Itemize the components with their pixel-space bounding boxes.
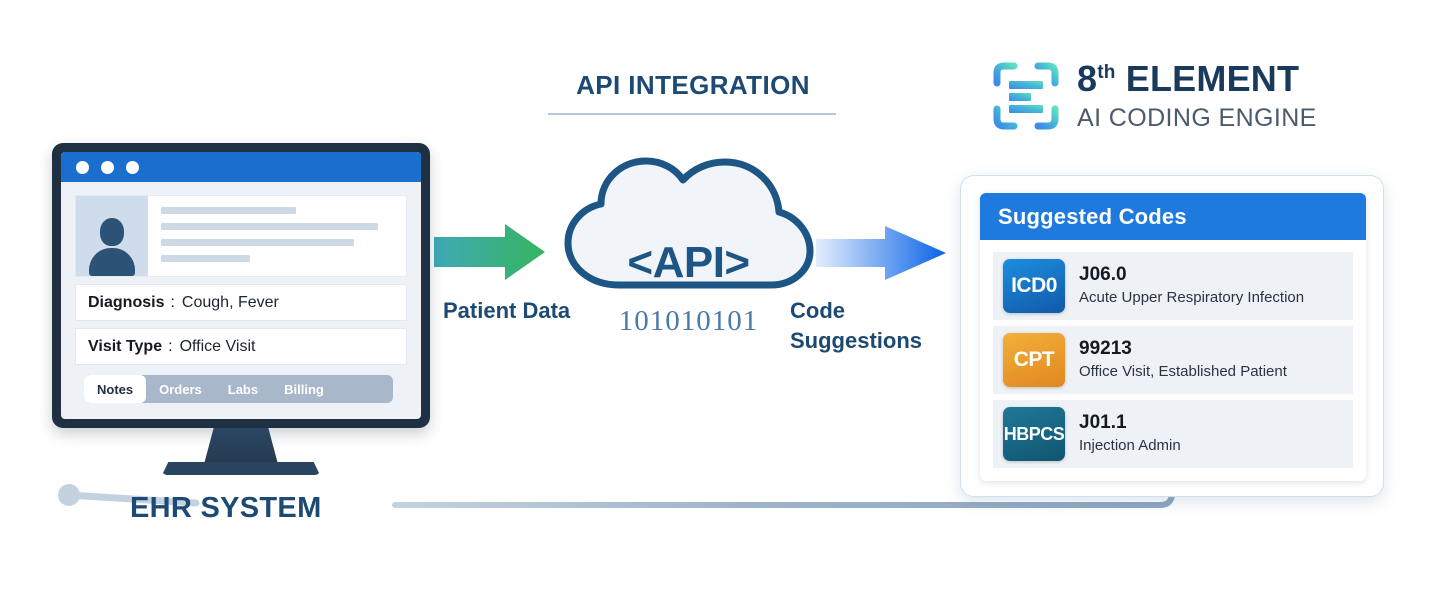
code-suggestions-arrow <box>816 226 946 280</box>
binary-stream-text: 101010101 <box>556 305 821 338</box>
hbpcs-badge: HBPCS <box>1003 407 1065 461</box>
window-dot-2[interactable] <box>101 161 114 174</box>
brand-name-word: ELEMENT <box>1126 58 1299 99</box>
code-row-hbpcs[interactable]: HBPCS J01.1 Injection Admin <box>993 400 1353 468</box>
field-separator: : <box>170 294 174 312</box>
scan-document-icon <box>992 61 1060 131</box>
placeholder-line <box>161 239 354 246</box>
suggested-codes-panel: Suggested Codes ICD0 J06.0 Acute Upper R… <box>980 193 1366 481</box>
icd-badge: ICD0 <box>1003 259 1065 313</box>
ehr-tab-bar: Notes Orders Labs Billing <box>84 375 393 403</box>
code-value: J06.0 <box>1079 264 1304 287</box>
code-description: Office Visit, Established Patient <box>1079 363 1287 382</box>
ehr-screen-body: Diagnosis : Cough, Fever Visit Type : Of… <box>61 182 421 403</box>
tab-labs[interactable]: Labs <box>215 375 271 403</box>
code-row-icd[interactable]: ICD0 J06.0 Acute Upper Respiratory Infec… <box>993 252 1353 320</box>
ehr-system-caption: EHR SYSTEM <box>130 492 322 525</box>
code-text: J06.0 Acute Upper Respiratory Infection <box>1079 264 1304 308</box>
code-description: Acute Upper Respiratory Infection <box>1079 289 1304 308</box>
brand-name-ordinal: th <box>1097 62 1115 83</box>
field-row-diagnosis: Diagnosis : Cough, Fever <box>75 284 407 321</box>
patient-detail-placeholders <box>148 196 406 276</box>
code-description: Injection Admin <box>1079 437 1181 456</box>
patient-data-arrow <box>434 224 545 280</box>
heading-underline <box>548 113 836 115</box>
brand-tagline: AI CODING ENGINE <box>1077 104 1317 133</box>
avatar-head <box>100 218 124 246</box>
monitor-bezel: Diagnosis : Cough, Fever Visit Type : Of… <box>52 143 430 428</box>
code-row-cpt[interactable]: CPT 99213 Office Visit, Established Pati… <box>993 326 1353 394</box>
placeholder-line <box>161 255 250 262</box>
suggested-codes-header: Suggested Codes <box>980 193 1366 240</box>
tab-billing[interactable]: Billing <box>271 375 337 403</box>
code-suggestions-label: Code Suggestions <box>790 296 960 355</box>
diagram-canvas: Diagnosis : Cough, Fever Visit Type : Of… <box>0 0 1429 589</box>
avatar <box>76 196 148 276</box>
field-label-visit-type: Visit Type <box>88 338 162 356</box>
ehr-monitor: Diagnosis : Cough, Fever Visit Type : Of… <box>52 143 432 443</box>
window-dot-1[interactable] <box>76 161 89 174</box>
brand-text: 8th ELEMENT AI CODING ENGINE <box>1077 58 1317 133</box>
tab-notes[interactable]: Notes <box>84 375 146 403</box>
code-value: J01.1 <box>1079 412 1181 435</box>
code-suggestions-label-line1: Code <box>790 296 960 326</box>
brand-logo: 8th ELEMENT AI CODING ENGINE <box>992 58 1317 133</box>
tab-orders[interactable]: Orders <box>146 375 215 403</box>
suggested-codes-list: ICD0 J06.0 Acute Upper Respiratory Infec… <box>980 240 1366 468</box>
brand-name: 8th ELEMENT <box>1077 60 1317 98</box>
placeholder-line <box>161 207 296 214</box>
code-value: 99213 <box>1079 338 1287 361</box>
code-suggestions-label-line2: Suggestions <box>790 326 960 356</box>
code-text: 99213 Office Visit, Established Patient <box>1079 338 1287 382</box>
placeholder-line <box>161 223 378 230</box>
patient-summary-card <box>75 195 407 277</box>
window-dot-3[interactable] <box>126 161 139 174</box>
field-value-visit-type: Office Visit <box>180 338 256 356</box>
monitor-stand-base <box>162 462 320 475</box>
suggested-codes-title: Suggested Codes <box>998 204 1187 230</box>
field-row-visit-type: Visit Type : Office Visit <box>75 328 407 365</box>
cpt-badge: CPT <box>1003 333 1065 387</box>
user-avatar-icon <box>89 216 135 276</box>
brand-name-number: 8 <box>1077 58 1097 99</box>
suggested-codes-card: Suggested Codes ICD0 J06.0 Acute Upper R… <box>960 175 1384 497</box>
avatar-body <box>89 248 135 276</box>
code-text: J01.1 Injection Admin <box>1079 412 1181 456</box>
field-separator: : <box>168 338 172 356</box>
field-value-diagnosis: Cough, Fever <box>182 294 279 312</box>
field-label-diagnosis: Diagnosis <box>88 294 164 312</box>
api-integration-heading: API INTEGRATION <box>548 70 838 101</box>
patient-data-label: Patient Data <box>443 296 570 326</box>
monitor-screen: Diagnosis : Cough, Fever Visit Type : Of… <box>61 152 421 419</box>
window-title-bar <box>61 152 421 182</box>
